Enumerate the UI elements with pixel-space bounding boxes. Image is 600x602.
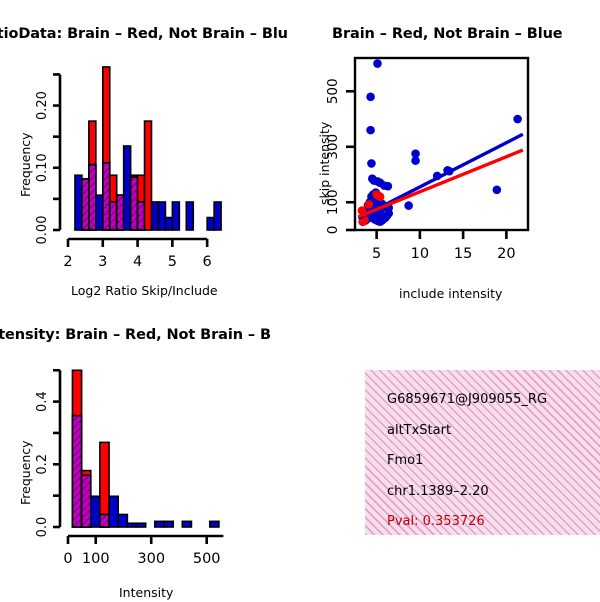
tick-label: 15 bbox=[454, 246, 472, 262]
histogram-bar-overlap bbox=[131, 177, 138, 230]
scatter-title: Brain – Red, Not Brain – Blue bbox=[332, 26, 563, 42]
histogram-bar-overlap bbox=[82, 475, 91, 527]
histogram-bar-blue bbox=[75, 175, 82, 230]
scatter-point bbox=[365, 200, 374, 209]
histogram-bar-overlap bbox=[82, 179, 89, 230]
info-line-pval: Pval: 0.353726 bbox=[387, 514, 600, 529]
histogram-bar-blue bbox=[155, 521, 164, 527]
histogram-bar-blue bbox=[91, 496, 100, 527]
tick-label: 4 bbox=[133, 254, 142, 270]
scatter-point bbox=[384, 209, 393, 218]
tick-label: 0 bbox=[325, 226, 341, 235]
histogram-bar-blue bbox=[214, 202, 221, 230]
histogram-bar-overlap bbox=[117, 195, 124, 230]
tick-label: 100 bbox=[325, 189, 341, 215]
histogram-bar-overlap bbox=[110, 202, 117, 230]
tick-label: 300 bbox=[325, 134, 341, 160]
tick-label: 10 bbox=[411, 246, 429, 262]
tick-label: 3 bbox=[98, 254, 107, 270]
info-line-probe-id: G6859671@J909055_RG bbox=[387, 392, 600, 407]
tick-label: 0.10 bbox=[35, 153, 50, 182]
intensity-histogram-title: ne Itensity: Brain – Red, Not Brain – B bbox=[0, 327, 271, 343]
histogram-bar-blue bbox=[137, 523, 146, 527]
scatter-point bbox=[404, 201, 413, 210]
tick-label: 500 bbox=[325, 78, 341, 104]
tick-label: 0 bbox=[63, 551, 72, 567]
histogram-bar-overlap bbox=[100, 514, 109, 527]
tick-label: 20 bbox=[497, 246, 515, 262]
scatter-point bbox=[366, 93, 375, 102]
scatter-point bbox=[366, 126, 375, 135]
tick-label: 300 bbox=[137, 551, 165, 567]
histogram-bar-overlap bbox=[72, 416, 81, 527]
histogram-bar-blue bbox=[96, 195, 103, 230]
histogram-bar-blue bbox=[124, 146, 131, 230]
tick-label: 500 bbox=[193, 551, 221, 567]
histogram-bar-overlap bbox=[138, 202, 145, 230]
scatter-point bbox=[367, 159, 376, 168]
ratio-histogram-plot: 0.000.100.2023456 bbox=[0, 50, 300, 310]
histogram-bar-blue bbox=[152, 202, 159, 230]
intensity-histogram-panel: ne Itensity: Brain – Red, Not Brain – B … bbox=[0, 300, 300, 600]
histogram-bar-blue bbox=[186, 202, 193, 230]
scatter-panel: Brain – Red, Not Brain – Blue skip inten… bbox=[300, 0, 600, 310]
histogram-bar-overlap bbox=[89, 165, 96, 230]
tick-label: 5 bbox=[372, 246, 381, 262]
annotation-info-box: G6859671@J909055_RG altTxStart Fmo1 chr1… bbox=[365, 370, 600, 535]
histogram-bar-blue bbox=[118, 514, 127, 527]
tick-label: 5 bbox=[168, 254, 177, 270]
histogram-bar-blue bbox=[109, 496, 118, 527]
intensity-histogram-plot: 0.00.20.40100300500 bbox=[0, 352, 300, 602]
scatter-point bbox=[411, 156, 420, 165]
tick-label: 6 bbox=[203, 254, 212, 270]
histogram-bar-blue bbox=[210, 521, 219, 527]
tick-label: 0.20 bbox=[35, 91, 50, 120]
histogram-bar-overlap bbox=[103, 163, 110, 230]
histogram-bar-blue bbox=[182, 521, 191, 527]
histogram-bar-blue bbox=[158, 202, 165, 230]
info-line-event-type: altTxStart bbox=[387, 423, 600, 438]
ratio-histogram-panel: RatioData: Brain – Red, Not Brain – Blu … bbox=[0, 0, 300, 310]
histogram-bar-red bbox=[145, 121, 152, 230]
info-line-gene-symbol: Fmo1 bbox=[387, 453, 600, 468]
histogram-bar-blue bbox=[172, 202, 179, 230]
histogram-bar-blue bbox=[165, 218, 172, 230]
scatter-point bbox=[493, 185, 502, 194]
tick-label: 0.2 bbox=[35, 454, 50, 475]
histogram-bar-blue bbox=[164, 521, 173, 527]
scatter-plot: 01003005005101520 bbox=[300, 50, 600, 310]
tick-label: 100 bbox=[82, 551, 110, 567]
info-box-text-lines: G6859671@J909055_RG altTxStart Fmo1 chr1… bbox=[365, 370, 600, 535]
scatter-point bbox=[384, 182, 393, 191]
histogram-bar-blue bbox=[207, 218, 214, 230]
ratio-histogram-title: RatioData: Brain – Red, Not Brain – Blu bbox=[0, 26, 288, 42]
tick-label: 0.4 bbox=[35, 391, 50, 412]
info-line-locus: chr1.1389–2.20 bbox=[387, 484, 600, 499]
histogram-bar-blue bbox=[127, 523, 136, 527]
tick-label: 0.00 bbox=[35, 216, 50, 245]
scatter-point bbox=[373, 59, 382, 68]
scatter-point bbox=[376, 192, 385, 201]
scatter-point bbox=[513, 115, 522, 124]
tick-label: 0.0 bbox=[35, 517, 50, 538]
tick-label: 2 bbox=[63, 254, 72, 270]
